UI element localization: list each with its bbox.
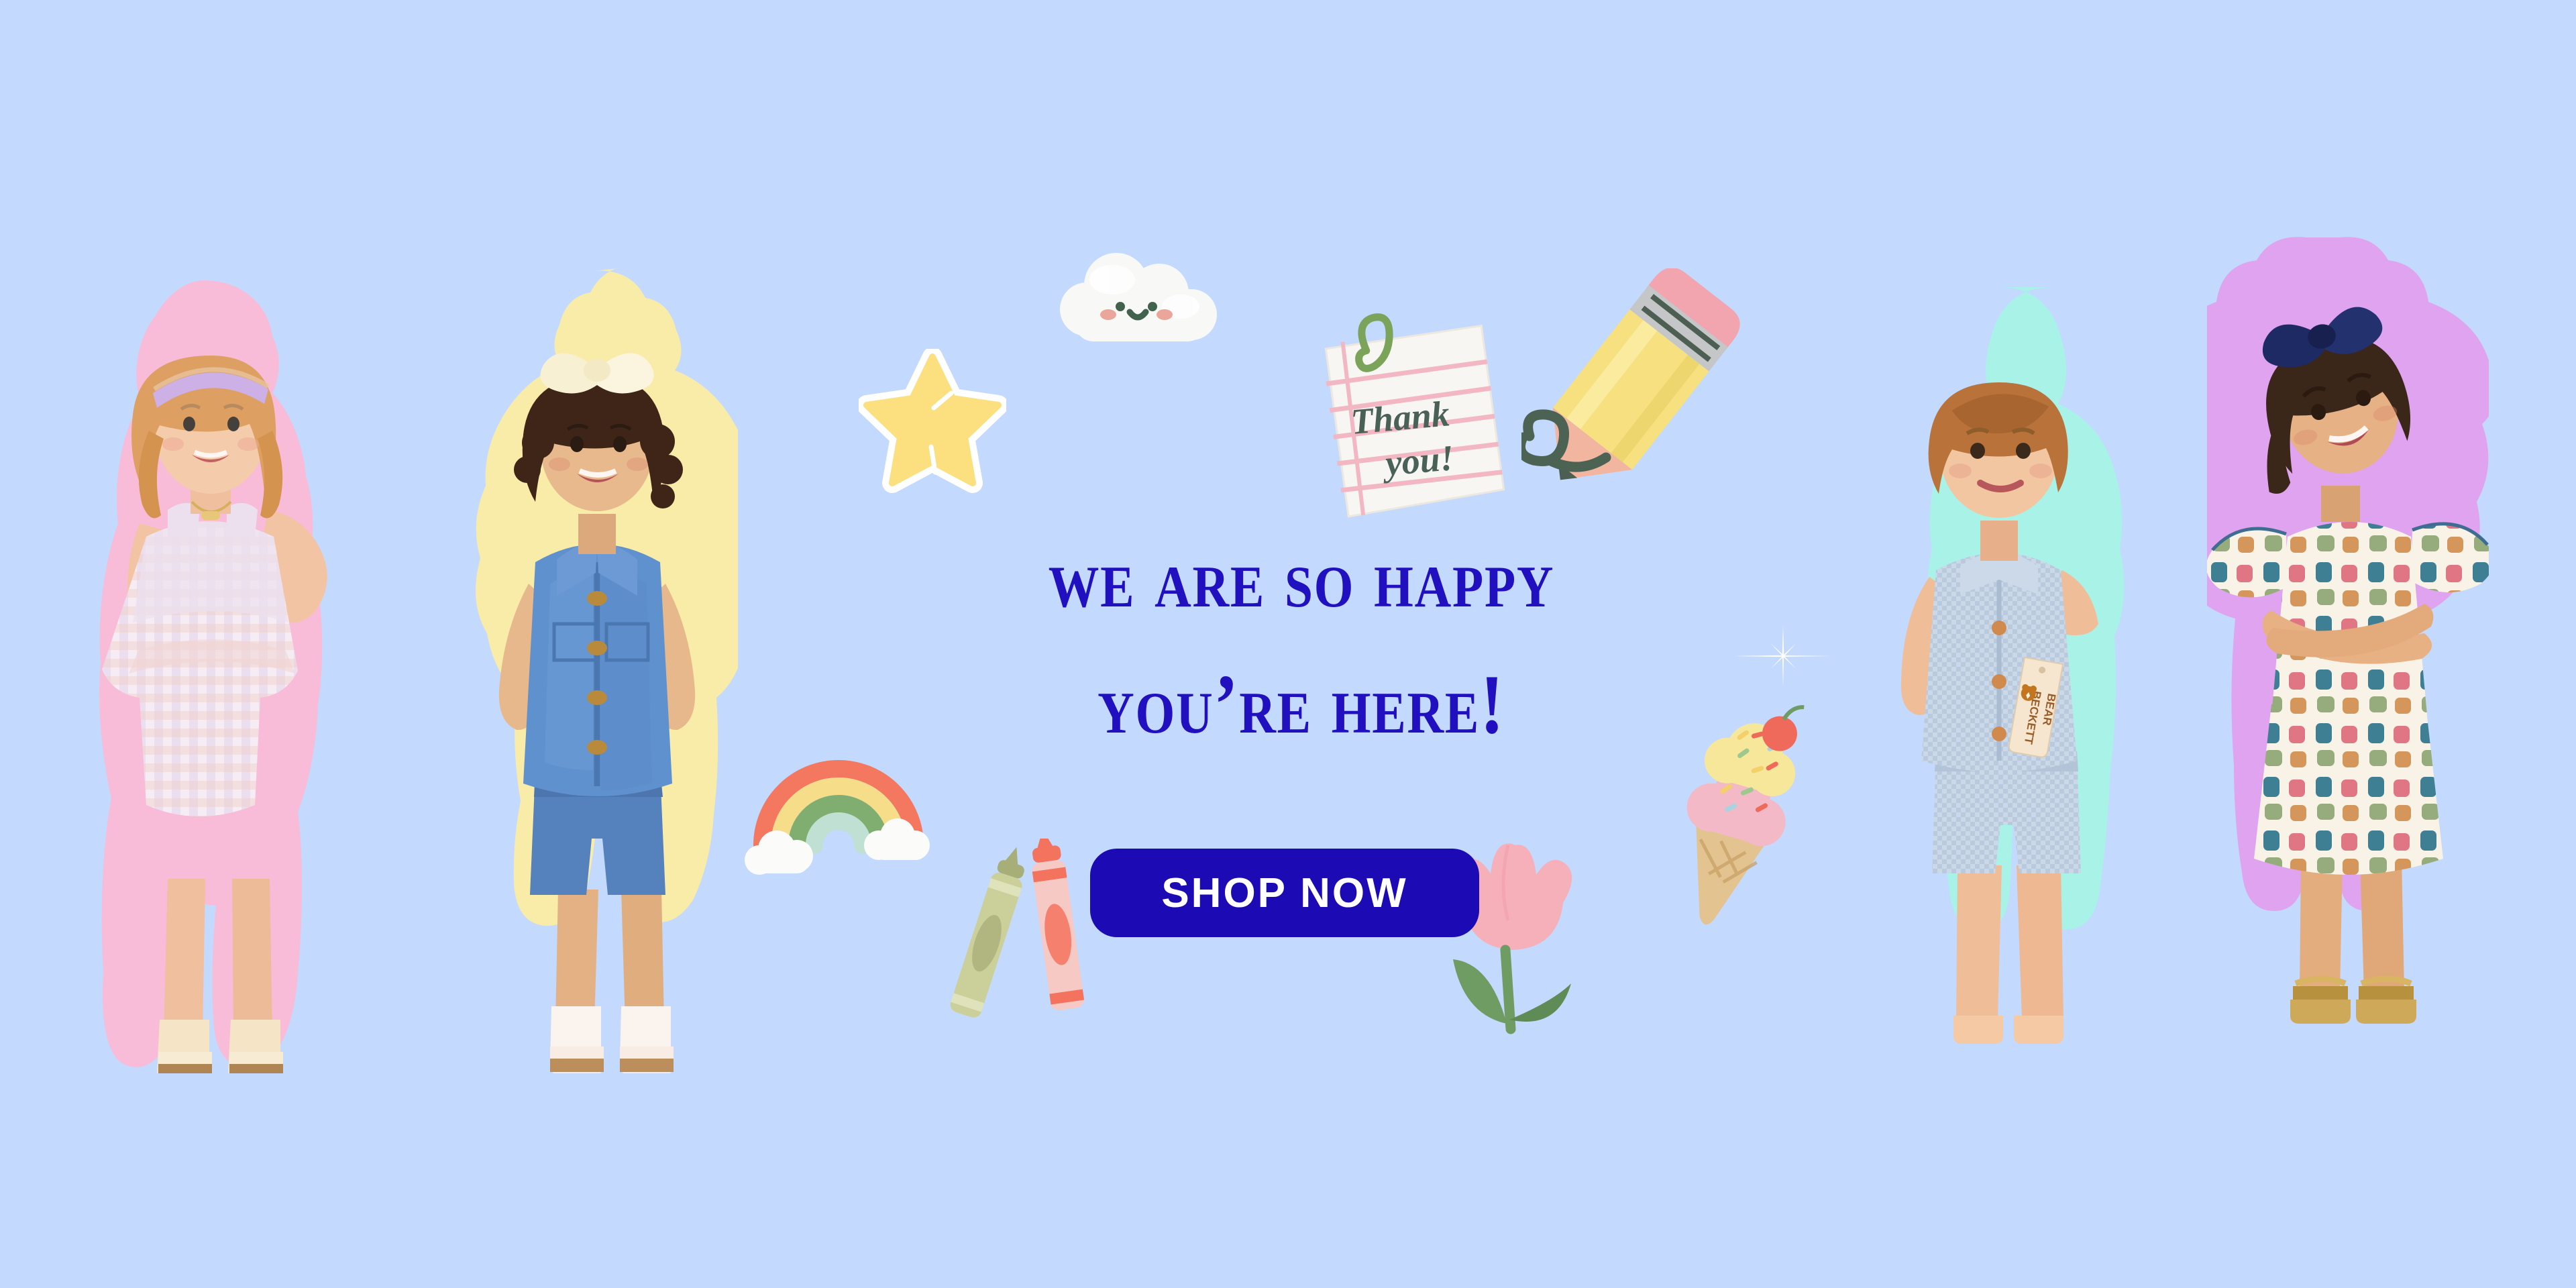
headline-line-2: You’re here! (863, 663, 1739, 747)
thank-you-note-icon: Thank you! (1320, 309, 1521, 530)
cloud-face-icon (1046, 245, 1234, 366)
child-photo-gingham-girl (67, 275, 349, 1073)
child-photo-brushstroke-girl (2207, 235, 2489, 1073)
note-line2: you! (1380, 437, 1456, 484)
child-photo-denim-girl (456, 268, 738, 1073)
child-body (499, 353, 695, 1073)
hero-banner: BECKETT BEAR (0, 0, 2576, 1288)
star-sticker-icon (859, 349, 1006, 503)
headline-block: We are so happy You’re here! (792, 537, 1811, 747)
shop-now-button[interactable]: SHOP NOW (1090, 849, 1479, 937)
note-line1: Thank (1349, 393, 1451, 442)
child-photo-waffle-boy: BECKETT BEAR (1872, 282, 2127, 1073)
pencil-icon (1521, 268, 1763, 523)
headline-line-1: We are so happy (863, 537, 1739, 621)
sparkle-icon (1750, 623, 1817, 690)
